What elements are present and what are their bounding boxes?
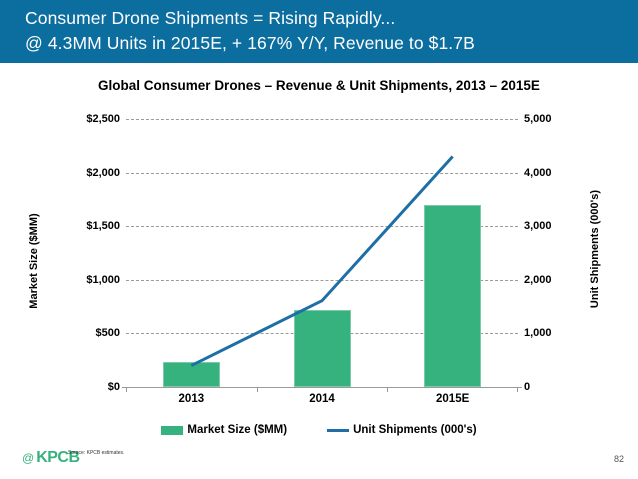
legend-item-unit-shipments: Unit Shipments (000's) xyxy=(327,424,477,436)
y-tick-label-left: $2,500 xyxy=(58,114,120,125)
slide-footer: @ KPCB Source: KPCB estimates. 82 xyxy=(0,446,638,479)
x-category-label-2015E: 2015E xyxy=(408,393,498,405)
page-number: 82 xyxy=(614,454,624,464)
header-title-line-1: Consumer Drone Shipments = Rising Rapidl… xyxy=(25,6,638,31)
x-tick-mark xyxy=(257,387,258,392)
chart-legend: Market Size ($MM) Unit Shipments (000's) xyxy=(0,424,638,436)
slide-header-banner: Consumer Drone Shipments = Rising Rapidl… xyxy=(0,0,638,63)
source-note: Source: KPCB estimates. xyxy=(68,450,124,456)
x-tick-mark xyxy=(387,387,388,392)
line-series xyxy=(126,119,518,387)
y-tick-label-right: 1,000 xyxy=(524,328,586,339)
y-tick-label-right: 4,000 xyxy=(524,168,586,179)
plot-area xyxy=(126,119,518,387)
y-axis-ticks-left: $0$500$1,000$1,500$2,000$2,500 xyxy=(58,119,120,387)
x-category-label-2013: 2013 xyxy=(146,393,236,405)
y-tick-label-left: $2,000 xyxy=(58,168,120,179)
y-tick-label-left: $0 xyxy=(58,382,120,393)
chart-title: Global Consumer Drones – Revenue & Unit … xyxy=(0,78,638,93)
legend-swatch-bar-icon xyxy=(161,426,183,435)
y-tick-label-right: 2,000 xyxy=(524,275,586,286)
x-tick-mark xyxy=(517,387,518,392)
y-tick-label-left: $500 xyxy=(58,328,120,339)
legend-item-market-size: Market Size ($MM) xyxy=(161,424,287,436)
y-tick-label-right: 3,000 xyxy=(524,221,586,232)
chart-container: Market Size ($MM) Unit Shipments (000's)… xyxy=(0,105,638,425)
y-axis-title-left: Market Size ($MM) xyxy=(28,181,40,341)
y-tick-label-right: 5,000 xyxy=(524,114,586,125)
y-tick-label-left: $1,500 xyxy=(58,221,120,232)
at-sign-icon: @ xyxy=(22,452,34,464)
header-title-line-2: @ 4.3MM Units in 2015E, + 167% Y/Y, Reve… xyxy=(25,31,638,56)
y-axis-ticks-right: 01,0002,0003,0004,0005,000 xyxy=(524,119,586,387)
x-axis-line xyxy=(122,387,522,388)
y-tick-label-left: $1,000 xyxy=(58,275,120,286)
legend-label-unit-shipments: Unit Shipments (000's) xyxy=(353,424,477,436)
x-tick-mark xyxy=(126,387,127,392)
y-axis-title-right: Unit Shipments (000's) xyxy=(589,159,601,339)
y-tick-label-right: 0 xyxy=(524,382,586,393)
x-axis-category-labels: 201320142015E xyxy=(126,393,518,411)
x-category-label-2014: 2014 xyxy=(277,393,367,405)
legend-swatch-line-icon xyxy=(327,429,349,432)
legend-label-market-size: Market Size ($MM) xyxy=(187,424,287,436)
slide: Consumer Drone Shipments = Rising Rapidl… xyxy=(0,0,638,479)
